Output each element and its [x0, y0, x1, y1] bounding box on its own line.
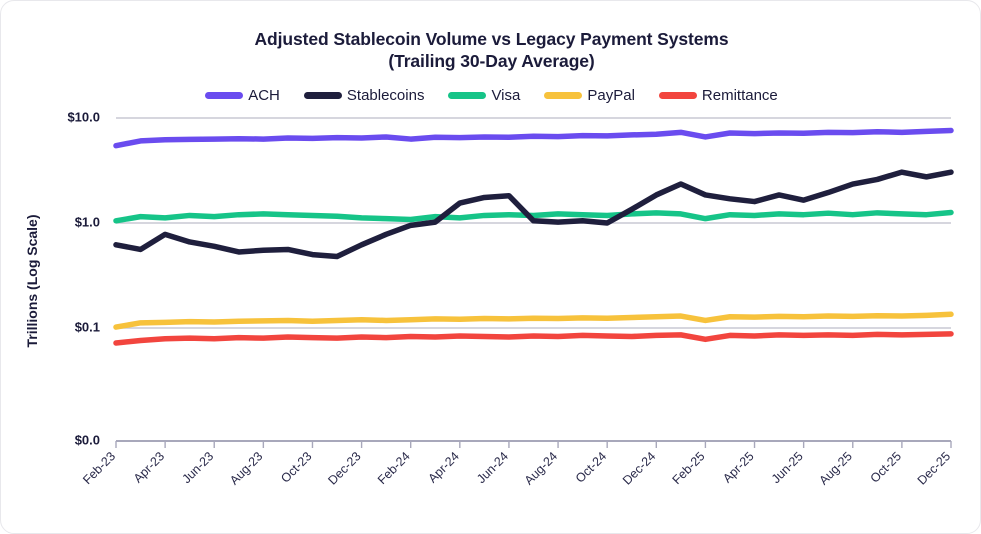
y-axis-title: Trillions (Log Scale) — [24, 214, 40, 347]
x-axis-tick-label: Apr-25 — [720, 449, 756, 485]
y-axis-tick-label: $1.0 — [75, 214, 100, 229]
x-axis-ticks-group — [116, 441, 951, 448]
x-axis-tick-label: Dec-25 — [915, 449, 953, 487]
y-axis-labels-group: $10.0$1.0$0.1$0.0 — [67, 109, 100, 447]
gridlines-group — [116, 118, 951, 441]
x-axis-tick-label: Oct-24 — [573, 449, 609, 485]
x-axis-tick-label: Feb-25 — [670, 449, 708, 487]
series-line-ach — [116, 131, 951, 146]
chart-card: Adjusted Stablecoin Volume vs Legacy Pay… — [0, 0, 981, 534]
series-line-remittance — [116, 334, 951, 343]
y-axis-tick-label: $10.0 — [67, 109, 100, 124]
x-axis-tick-label: Jun-23 — [179, 449, 216, 486]
x-axis-tick-label: Feb-23 — [80, 449, 118, 487]
x-axis-tick-label: Dec-23 — [325, 449, 363, 487]
plot-area: $10.0$1.0$0.1$0.0 Feb-23Apr-23Jun-23Aug-… — [1, 1, 981, 534]
x-axis-tick-label: Jun-25 — [769, 449, 806, 486]
x-axis-tick-label: Aug-25 — [816, 449, 854, 487]
y-axis-tick-label: $0.1 — [75, 319, 100, 334]
series-line-paypal — [116, 314, 951, 327]
x-axis-tick-label: Apr-24 — [426, 449, 462, 485]
x-axis-tick-label: Aug-23 — [227, 449, 265, 487]
x-axis-tick-label: Dec-24 — [620, 449, 658, 487]
x-axis-labels-group: Feb-23Apr-23Jun-23Aug-23Oct-23Dec-23Feb-… — [80, 449, 953, 487]
series-group — [116, 131, 951, 343]
x-axis-tick-label: Jun-24 — [474, 449, 511, 486]
chart-svg: $10.0$1.0$0.1$0.0 Feb-23Apr-23Jun-23Aug-… — [1, 1, 981, 534]
x-axis-tick-label: Oct-23 — [278, 449, 314, 485]
x-axis-tick-label: Aug-24 — [522, 449, 560, 487]
y-axis-tick-label: $0.0 — [75, 432, 100, 447]
x-axis-tick-label: Oct-25 — [868, 449, 904, 485]
x-axis-tick-label: Apr-23 — [131, 449, 167, 485]
x-axis-tick-label: Feb-24 — [375, 449, 413, 487]
